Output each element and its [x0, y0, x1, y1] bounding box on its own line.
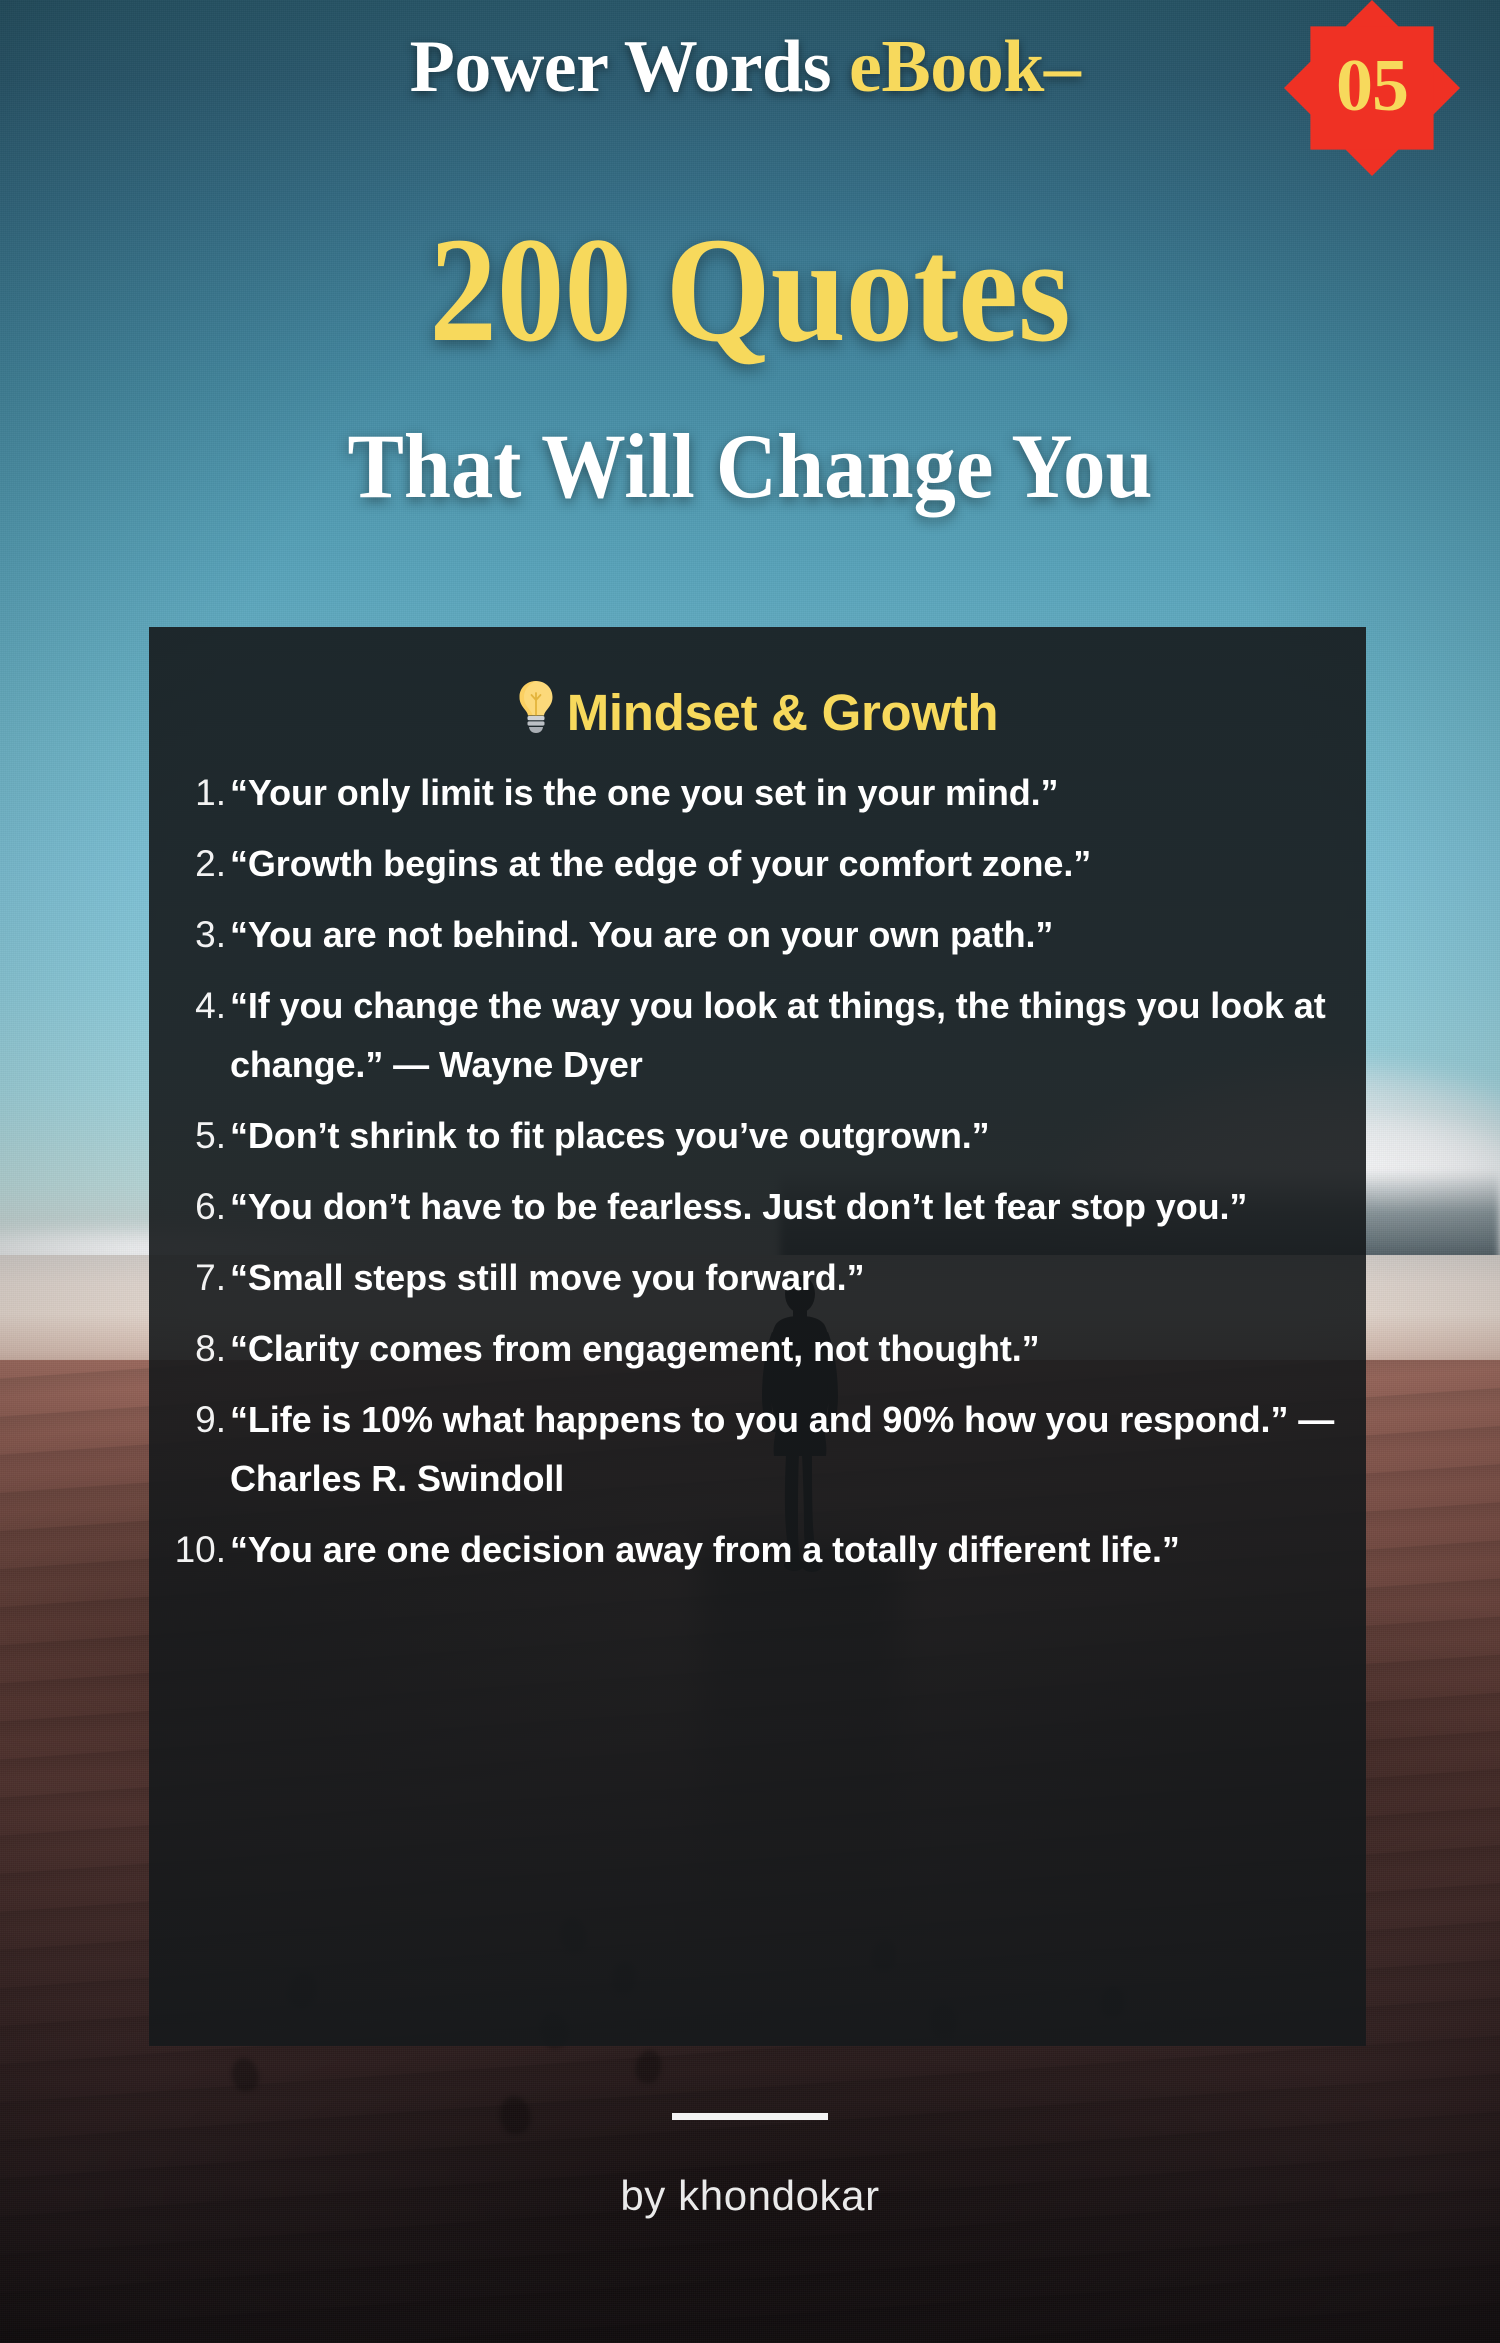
ebook-cover-poster: Power Words eBook– 05 200 Quotes That Wi… — [0, 0, 1500, 2343]
quote-item: 4. “If you change the way you look at th… — [149, 976, 1344, 1094]
quotes-panel: Mindset & Growth 1. “Your only limit is … — [149, 627, 1366, 2046]
author-byline: by khondokar — [0, 2175, 1500, 2217]
quote-item: 2. “Growth begins at the edge of your co… — [149, 834, 1344, 893]
page-title: 200 Quotes — [75, 215, 1425, 365]
quote-number: 5. — [149, 1106, 230, 1165]
quote-text: “Don’t shrink to fit places you’ve outgr… — [230, 1106, 1344, 1165]
series-eyebrow: Power Words eBook– — [0, 30, 1500, 104]
quote-text: “Small steps still move you forward.” — [230, 1248, 1344, 1307]
lightbulb-icon — [517, 680, 555, 734]
quote-text: “You are not behind. You are on your own… — [230, 905, 1344, 964]
footer-divider — [672, 2113, 828, 2120]
quote-number: 1. — [149, 763, 230, 822]
quote-number: 6. — [149, 1177, 230, 1236]
quote-number: 7. — [149, 1248, 230, 1307]
quote-text: “You don’t have to be fearless. Just don… — [230, 1177, 1344, 1236]
series-label-primary: Power Words — [410, 26, 849, 108]
issue-number-badge: 05 — [1284, 0, 1460, 176]
quote-number: 10. — [149, 1520, 230, 1579]
poster-content: Power Words eBook– 05 200 Quotes That Wi… — [0, 0, 1500, 2343]
quote-text: “Clarity comes from engagement, not thou… — [230, 1319, 1344, 1378]
badge-number: 05 — [1284, 0, 1460, 176]
quotes-list: 1. “Your only limit is the one you set i… — [149, 763, 1366, 1579]
quote-text: “If you change the way you look at thing… — [230, 976, 1344, 1094]
quote-item: 5. “Don’t shrink to fit places you’ve ou… — [149, 1106, 1344, 1165]
quote-item: 9. “Life is 10% what happens to you and … — [149, 1390, 1344, 1508]
quote-text: “Life is 10% what happens to you and 90%… — [230, 1390, 1344, 1508]
quote-number: 4. — [149, 976, 230, 1035]
quote-number: 2. — [149, 834, 230, 893]
quote-item: 3. “You are not behind. You are on your … — [149, 905, 1344, 964]
quote-text: “Growth begins at the edge of your comfo… — [230, 834, 1344, 893]
quote-item: 8. “Clarity comes from engagement, not t… — [149, 1319, 1344, 1378]
quote-number: 8. — [149, 1319, 230, 1378]
quote-item: 10. “You are one decision away from a to… — [149, 1520, 1344, 1579]
section-heading: Mindset & Growth — [149, 680, 1366, 741]
quote-number: 9. — [149, 1390, 230, 1449]
quote-item: 6. “You don’t have to be fearless. Just … — [149, 1177, 1344, 1236]
quote-item: 7. “Small steps still move you forward.” — [149, 1248, 1344, 1307]
section-heading-label: Mindset & Growth — [567, 684, 999, 741]
quote-text: “Your only limit is the one you set in y… — [230, 763, 1344, 822]
quote-text: “You are one decision away from a totall… — [230, 1520, 1344, 1579]
quote-item: 1. “Your only limit is the one you set i… — [149, 763, 1344, 822]
quote-number: 3. — [149, 905, 230, 964]
series-label-accent: eBook– — [849, 26, 1080, 108]
page-subtitle: That Will Change You — [60, 420, 1440, 512]
